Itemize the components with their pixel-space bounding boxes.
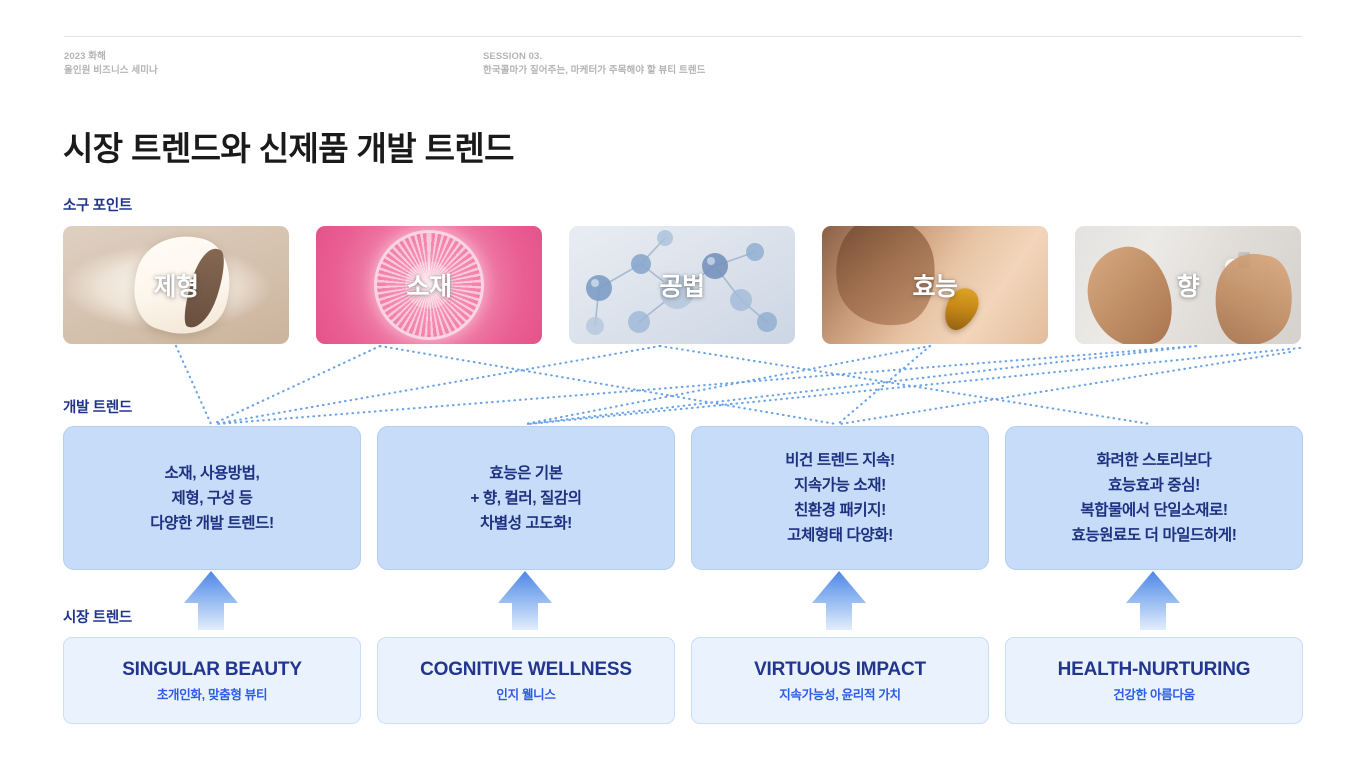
appeal-card-process[interactable]: 공법 [569, 226, 795, 344]
upward-arrow-group [0, 568, 1366, 634]
slide-header: 2023 화해 올인원 비즈니스 세미나 SESSION 03. 한국콜마가 짚… [64, 50, 1304, 84]
market-box-title: SINGULAR BEAUTY [122, 658, 302, 682]
appeal-card-formulation[interactable]: 제형 [63, 226, 289, 344]
development-box-line: + 향, 컬러, 질감의 [470, 486, 581, 511]
market-box-1[interactable]: SINGULAR BEAUTY 초개인화, 맞춤형 뷰티 [63, 637, 361, 724]
market-box-title: VIRTUOUS IMPACT [754, 658, 926, 682]
appeal-card-fragrance[interactable]: 향 [1075, 226, 1301, 344]
header-left-line1: 2023 화해 [64, 50, 158, 64]
market-box-subtitle: 건강한 아름다움 [1113, 687, 1195, 703]
development-box-2[interactable]: 효능은 기본 + 향, 컬러, 질감의 차별성 고도화! [377, 426, 675, 570]
page-title: 시장 트렌드와 신제품 개발 트렌드 [63, 122, 514, 170]
market-box-4[interactable]: HEALTH-NURTURING 건강한 아름다움 [1005, 637, 1303, 724]
header-right: SESSION 03. 한국콜마가 짚어주는, 마케터가 주목해야 할 뷰티 트… [483, 50, 706, 78]
header-session-number: SESSION 03. [483, 50, 706, 64]
development-box-line: 효능효과 중심! [1071, 473, 1236, 498]
development-box-text: 비건 트렌드 지속! 지속가능 소재! 친환경 패키지! 고체형태 다양화! [785, 448, 895, 548]
market-box-subtitle: 지속가능성, 윤리적 가치 [779, 687, 901, 703]
section-label-development-trend: 개발 트렌드 [63, 396, 132, 417]
development-box-4[interactable]: 화려한 스토리보다 효능효과 중심! 복합물에서 단일소재로! 효능원료도 더 … [1005, 426, 1303, 570]
market-box-title: COGNITIVE WELLNESS [420, 658, 632, 682]
development-box-line: 효능원료도 더 마일드하게! [1071, 523, 1236, 548]
section-label-appeal-point: 소구 포인트 [63, 194, 132, 215]
appeal-card-efficacy[interactable]: 효능 [822, 226, 1048, 344]
slide-root: 2023 화해 올인원 비즈니스 세미나 SESSION 03. 한국콜마가 짚… [0, 0, 1366, 768]
arrow-up-icon [498, 571, 552, 630]
market-box-title: HEALTH-NURTURING [1058, 658, 1251, 682]
development-box-line: 복합물에서 단일소재로! [1071, 498, 1236, 523]
header-session-title: 한국콜마가 짚어주는, 마케터가 주목해야 할 뷰티 트렌드 [483, 64, 706, 78]
appeal-card-material[interactable]: 소재 [316, 226, 542, 344]
market-box-subtitle: 초개인화, 맞춤형 뷰티 [157, 687, 267, 703]
development-box-text: 효능은 기본 + 향, 컬러, 질감의 차별성 고도화! [470, 461, 581, 536]
appeal-card-label: 소재 [316, 267, 542, 303]
development-box-text: 소재, 사용방법, 제형, 구성 등 다양한 개발 트렌드! [150, 461, 273, 536]
header-left: 2023 화해 올인원 비즈니스 세미나 [64, 50, 158, 78]
development-box-line: 소재, 사용방법, [150, 461, 273, 486]
market-trend-row: SINGULAR BEAUTY 초개인화, 맞춤형 뷰티 COGNITIVE W… [63, 637, 1303, 722]
development-box-line: 제형, 구성 등 [150, 486, 273, 511]
market-box-subtitle: 인지 웰니스 [496, 687, 555, 703]
market-box-2[interactable]: COGNITIVE WELLNESS 인지 웰니스 [377, 637, 675, 724]
development-box-line: 다양한 개발 트렌드! [150, 511, 273, 536]
development-box-3[interactable]: 비건 트렌드 지속! 지속가능 소재! 친환경 패키지! 고체형태 다양화! [691, 426, 989, 570]
development-box-1[interactable]: 소재, 사용방법, 제형, 구성 등 다양한 개발 트렌드! [63, 426, 361, 570]
development-box-line: 화려한 스토리보다 [1071, 448, 1236, 473]
development-box-line: 고체형태 다양화! [785, 523, 895, 548]
development-trend-row: 소재, 사용방법, 제형, 구성 등 다양한 개발 트렌드! 효능은 기본 + … [63, 426, 1303, 568]
development-box-line: 지속가능 소재! [785, 473, 895, 498]
market-box-3[interactable]: VIRTUOUS IMPACT 지속가능성, 윤리적 가치 [691, 637, 989, 724]
arrow-up-icon [1126, 571, 1180, 630]
development-box-line: 비건 트렌드 지속! [785, 448, 895, 473]
header-left-line2: 올인원 비즈니스 세미나 [64, 64, 158, 78]
development-box-line: 차별성 고도화! [470, 511, 581, 536]
section-label-market-trend: 시장 트렌드 [63, 606, 132, 627]
development-box-text: 화려한 스토리보다 효능효과 중심! 복합물에서 단일소재로! 효능원료도 더 … [1071, 448, 1236, 548]
development-box-line: 친환경 패키지! [785, 498, 895, 523]
header-divider [64, 36, 1302, 37]
appeal-card-label: 공법 [569, 267, 795, 303]
arrow-up-icon [184, 571, 238, 630]
appeal-point-card-row: 제형 소재 [63, 226, 1303, 344]
appeal-card-label: 효능 [822, 267, 1048, 303]
arrow-up-icon [812, 571, 866, 630]
development-box-line: 효능은 기본 [470, 461, 581, 486]
appeal-card-label: 향 [1075, 267, 1301, 303]
appeal-card-label: 제형 [63, 267, 289, 303]
